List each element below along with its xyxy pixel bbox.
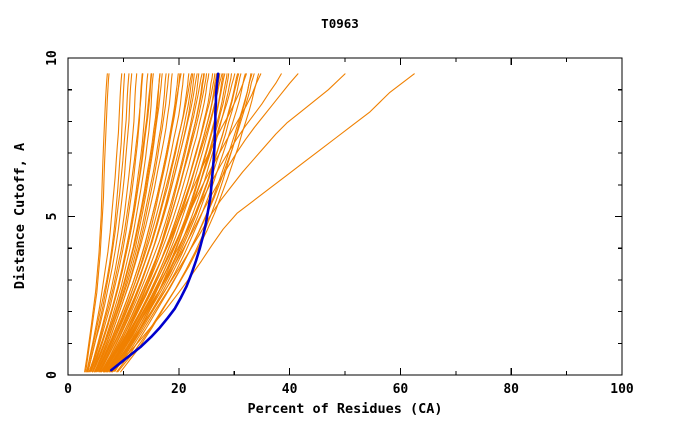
y-axis-label: Distance Cutoff, A xyxy=(12,143,28,289)
x-axis-tick-label: 80 xyxy=(503,382,519,397)
x-axis-label: Percent of Residues (CA) xyxy=(247,401,442,417)
x-axis-tick-label: 40 xyxy=(282,382,298,397)
y-axis-tick-label: 0 xyxy=(45,371,60,379)
x-axis-tick-label: 60 xyxy=(393,382,409,397)
x-axis-tick-label: 100 xyxy=(610,382,634,397)
x-axis-tick-label: 0 xyxy=(64,382,72,397)
plot-svg: T0963 0204060801000510 Percent of Residu… xyxy=(0,0,680,440)
page-title: T0963 xyxy=(321,16,359,31)
chart-canvas: T0963 0204060801000510 Percent of Residu… xyxy=(0,0,680,440)
y-axis-tick-label: 5 xyxy=(45,213,60,221)
y-axis-tick-label: 10 xyxy=(45,50,60,66)
x-axis-tick-label: 20 xyxy=(171,382,187,397)
